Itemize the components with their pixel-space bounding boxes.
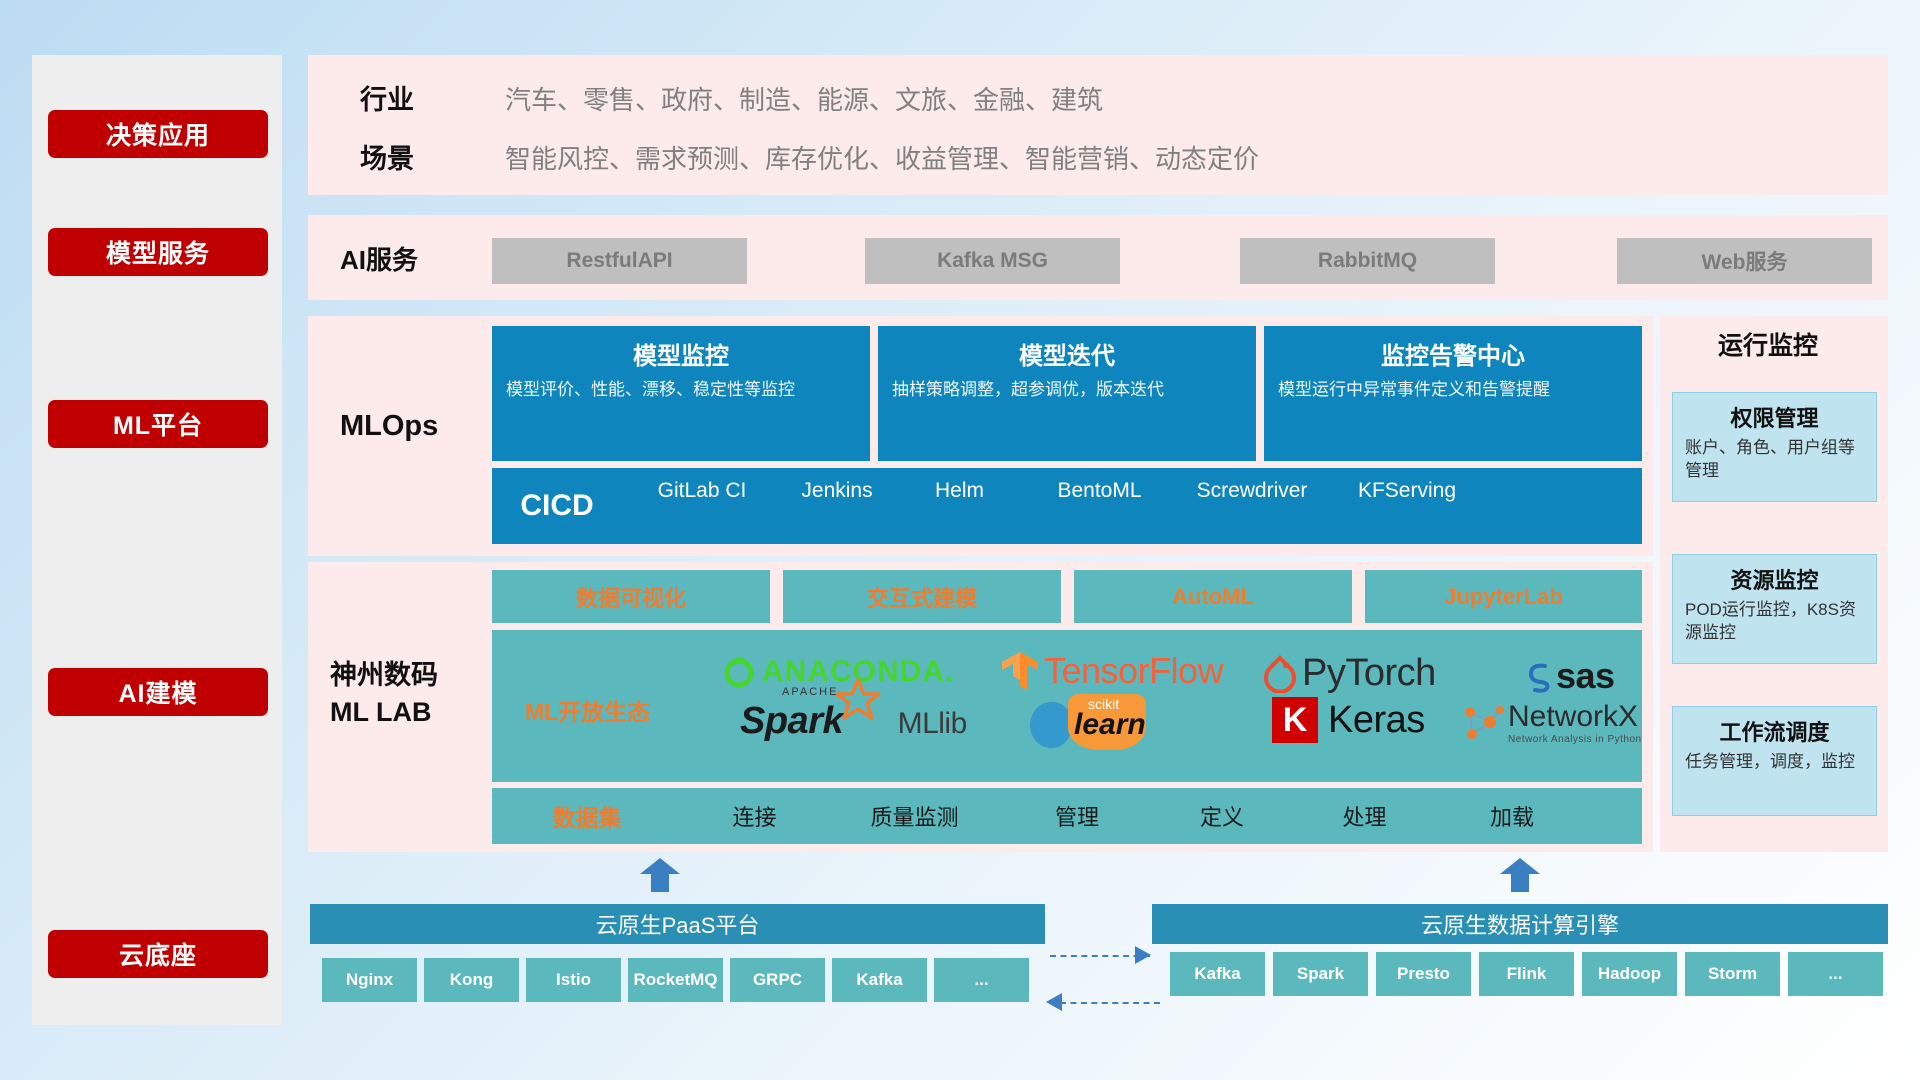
keras-logo: K Keras [1272,697,1425,743]
paas-pill-grpc[interactable]: GRPC [730,958,825,1002]
keras-mark-icon: K [1272,697,1318,743]
networkx-mark-icon [1460,702,1504,744]
paas-platform-bar[interactable]: 云原生PaaS平台 [310,904,1045,944]
service-chip-restfulapi[interactable]: RestfulAPI [492,238,747,284]
compute-pill-presto[interactable]: Presto [1376,952,1471,996]
monitor-box-permission[interactable]: 权限管理 账户、角色、用户组等管理 [1672,392,1877,502]
tool-chip-automl[interactable]: AutoML [1074,570,1352,623]
mllab-label-line2: ML LAB [330,695,432,729]
card-title: 模型监控 [506,336,856,371]
compute-engine-bar[interactable]: 云原生数据计算引擎 [1152,904,1888,944]
scikit-learn-logo: scikit learn [1030,698,1200,746]
monitor-box-title: 工作流调度 [1685,715,1864,747]
spark-mllib-logo: APACHE Spark MLlib [740,700,967,743]
rail-item-decision[interactable]: 决策应用 [48,110,268,158]
cicd-label: CICD [492,489,622,523]
service-chip-rabbitmq[interactable]: RabbitMQ [1240,238,1495,284]
rail-item-cloud-base[interactable]: 云底座 [48,930,268,978]
scenario-value: 智能风控、需求预测、库存优化、收益管理、智能营销、动态定价 [505,139,1259,176]
dataset-cell-quality[interactable]: 质量监测 [827,800,1002,832]
scikit-blue-blob-icon [1030,702,1072,748]
learn-wordmark: learn [1074,708,1146,742]
card-desc: 模型评价、性能、漂移、稳定性等监控 [506,379,856,402]
networkx-logo: NetworkX Network Analysis in Python [1460,700,1642,745]
compute-pill-more[interactable]: ... [1788,952,1883,996]
left-rail [32,55,282,1025]
mlops-card-alert-center[interactable]: 监控告警中心 模型运行中异常事件定义和告警提醒 [1264,326,1642,461]
tensorflow-mark-icon [1000,650,1040,692]
sas-mark-icon [1520,659,1554,693]
paas-pill-nginx[interactable]: Nginx [322,958,417,1002]
card-title: 监控告警中心 [1278,336,1628,371]
rail-item-ml-platform[interactable]: ML平台 [48,400,268,448]
cicd-item-jenkins[interactable]: Jenkins [782,478,892,534]
dataset-label: 数据集 [492,799,682,833]
rail-item-model-service[interactable]: 模型服务 [48,228,268,276]
pytorch-mark-icon [1262,655,1298,693]
card-title: 模型迭代 [892,336,1242,371]
dataset-cell-manage[interactable]: 管理 [1002,800,1152,832]
paas-pill-istio[interactable]: Istio [526,958,621,1002]
tool-chip-data-visualization[interactable]: 数据可视化 [492,570,770,623]
ecosystem-label: ML开放生态 [525,693,650,727]
monitor-box-title: 资源监控 [1685,563,1864,595]
service-chip-web-service[interactable]: Web服务 [1617,238,1872,284]
sas-logo: sas [1520,655,1615,697]
monitor-box-desc: POD运行监控，K8S资源监控 [1685,599,1864,645]
cicd-item-kfserving[interactable]: KFServing [1332,478,1482,534]
networkx-tagline: Network Analysis in Python [1508,734,1642,745]
dataset-cell-process[interactable]: 处理 [1292,800,1437,832]
pytorch-logo: PyTorch [1262,652,1436,695]
mlops-card-model-monitoring[interactable]: 模型监控 模型评价、性能、漂移、稳定性等监控 [492,326,870,461]
service-chip-kafka-msg[interactable]: Kafka MSG [865,238,1120,284]
cicd-bar: CICD GitLab CI Jenkins Helm BentoML Scre… [492,468,1642,544]
dashed-connector-bottom [1060,1002,1160,1004]
tool-chip-jupyterlab[interactable]: JupyterLab [1365,570,1642,623]
dataset-cell-load[interactable]: 加载 [1437,800,1587,832]
pytorch-wordmark: PyTorch [1302,652,1436,695]
cicd-item-gitlab-ci[interactable]: GitLab CI [622,478,782,534]
scenario-label: 场景 [360,137,414,176]
mlops-card-model-iteration[interactable]: 模型迭代 抽样策略调整，超参调优，版本迭代 [878,326,1256,461]
keras-wordmark: Keras [1328,699,1425,742]
compute-pill-kafka[interactable]: Kafka [1170,952,1265,996]
dataset-row: 数据集 连接 质量监测 管理 定义 处理 加载 [492,788,1642,844]
monitor-box-desc: 账户、角色、用户组等管理 [1685,437,1864,483]
rail-item-ai-modeling[interactable]: AI建模 [48,668,268,716]
cicd-item-bentoml[interactable]: BentoML [1027,478,1172,534]
paas-pill-kong[interactable]: Kong [424,958,519,1002]
industry-value: 汽车、零售、政府、制造、能源、文旅、金融、建筑 [505,80,1103,117]
compute-pill-hadoop[interactable]: Hadoop [1582,952,1677,996]
dataset-cell-connect[interactable]: 连接 [682,800,827,832]
compute-pill-storm[interactable]: Storm [1685,952,1780,996]
mllib-wordmark: MLlib [898,707,967,740]
monitor-box-title: 权限管理 [1685,401,1864,433]
tensorflow-logo: TensorFlow [1000,650,1223,692]
architecture-diagram: 决策应用 模型服务 ML平台 AI建模 云底座 行业 汽车、零售、政府、制造、能… [0,0,1920,1080]
spark-star-icon [836,678,880,720]
monitor-box-resource[interactable]: 资源监控 POD运行监控，K8S资源监控 [1672,554,1877,664]
tool-chip-interactive-modeling[interactable]: 交互式建模 [783,570,1061,623]
compute-pill-spark[interactable]: Spark [1273,952,1368,996]
dashed-arrow-left-icon [1044,993,1064,1011]
paas-pill-kafka[interactable]: Kafka [832,958,927,1002]
industry-label: 行业 [360,78,414,117]
card-desc: 抽样策略调整，超参调优，版本迭代 [892,379,1242,402]
compute-pill-flink[interactable]: Flink [1479,952,1574,996]
card-desc: 模型运行中异常事件定义和告警提醒 [1278,379,1628,402]
sas-wordmark: sas [1556,655,1615,697]
dashed-arrow-right-icon [1135,946,1155,964]
cicd-item-screwdriver[interactable]: Screwdriver [1172,478,1332,534]
monitor-box-desc: 任务管理，调度，监控 [1685,751,1864,774]
ai-service-label: AI服务 [340,237,418,279]
paas-pill-more[interactable]: ... [934,958,1029,1002]
paas-pill-rocketmq[interactable]: RocketMQ [628,958,723,1002]
mlops-label: MLOps [340,405,438,447]
compute-up-arrow-icon [1500,858,1540,892]
dataset-cell-define[interactable]: 定义 [1152,800,1292,832]
tensorflow-wordmark: TensorFlow [1044,650,1223,692]
monitor-box-workflow[interactable]: 工作流调度 任务管理，调度，监控 [1672,706,1877,816]
cicd-item-helm[interactable]: Helm [892,478,1027,534]
networkx-wordmark: NetworkX [1508,700,1642,734]
apache-tag: APACHE [782,686,838,698]
mllab-label-line1: 神州数码 [330,655,438,689]
monitor-column-title: 运行监控 [1718,326,1818,362]
anaconda-mark-icon [722,655,756,689]
paas-up-arrow-icon [640,858,680,892]
spark-wordmark: Spark [740,700,843,742]
